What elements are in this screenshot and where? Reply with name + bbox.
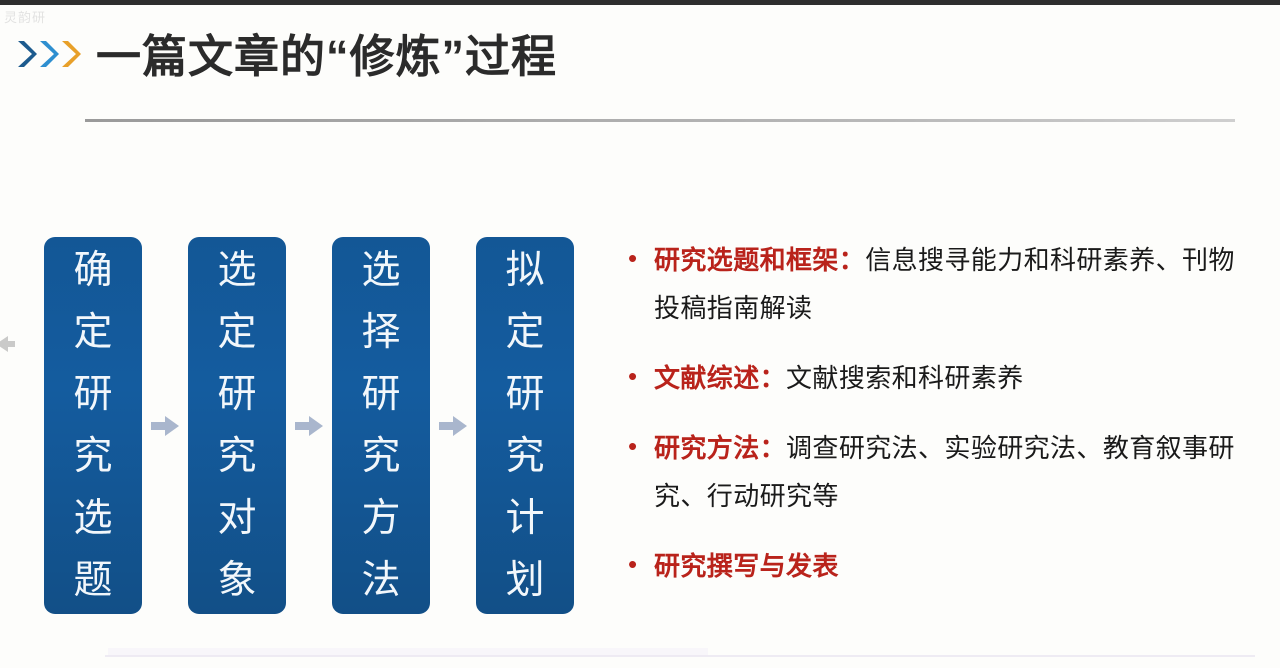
- step-char: 研: [505, 364, 544, 426]
- step-char: 法: [361, 550, 400, 612]
- step-char: 择: [361, 302, 400, 364]
- chevron-right-icon-2: [38, 39, 60, 69]
- list-item: • 研究撰写与发表: [620, 542, 1260, 590]
- chevron-group-icon: [16, 39, 82, 69]
- step-char: 究: [73, 426, 112, 488]
- process-step-1[interactable]: 确 定 研 究 选 题: [44, 237, 142, 614]
- list-item: • 研究选题和框架：信息搜寻能力和科研素养、刊物投稿指南解读: [620, 236, 1260, 332]
- slide-canvas: 灵韵研 一篇文章的“修炼”过程: [0, 0, 1280, 668]
- bullet-list: • 研究选题和框架：信息搜寻能力和科研素养、刊物投稿指南解读 • 文献综述：文献…: [620, 236, 1260, 590]
- step-char: 拟: [505, 240, 544, 302]
- step-char: 象: [217, 550, 256, 612]
- corner-watermark: 灵韵研: [4, 7, 46, 26]
- bullet-marker-icon: •: [620, 236, 654, 280]
- step-char: 计: [505, 488, 544, 550]
- bullet-body: 文献搜索和科研素养: [786, 363, 1024, 393]
- bullet-text: 研究方法：调查研究法、实验研究法、教育叙事研究、行动研究等: [654, 424, 1260, 520]
- video-top-bar: [0, 0, 1280, 5]
- step-char: 究: [361, 426, 400, 488]
- step-char: 确: [73, 240, 112, 302]
- flow-arrow-icon-2: [286, 414, 332, 438]
- step-char: 研: [361, 364, 400, 426]
- flow-arrow-icon-1: [142, 414, 188, 438]
- process-step-3[interactable]: 选 择 研 究 方 法: [332, 237, 430, 614]
- slide-header: 一篇文章的“修炼”过程: [0, 26, 1280, 96]
- page-title: 一篇文章的“修炼”过程: [96, 26, 557, 88]
- title-divider: [85, 119, 1235, 122]
- bullet-marker-icon: •: [620, 542, 654, 586]
- bullet-marker-icon: •: [620, 424, 654, 468]
- bullet-heading: 文献综述：: [654, 363, 786, 393]
- process-flow: 确 定 研 究 选 题 选 定 研 究 对 象 选 择: [44, 237, 574, 614]
- list-item: • 研究方法：调查研究法、实验研究法、教育叙事研究、行动研究等: [620, 424, 1260, 520]
- bottom-divider: [105, 655, 1255, 657]
- step-char: 选: [73, 488, 112, 550]
- step-char: 研: [217, 364, 256, 426]
- step-char: 选: [217, 240, 256, 302]
- step-char: 定: [505, 302, 544, 364]
- step-char: 定: [217, 302, 256, 364]
- step-char: 对: [217, 488, 256, 550]
- process-step-4[interactable]: 拟 定 研 究 计 划: [476, 237, 574, 614]
- step-char: 究: [217, 426, 256, 488]
- list-item: • 文献综述：文献搜索和科研素养: [620, 354, 1260, 402]
- process-step-2[interactable]: 选 定 研 究 对 象: [188, 237, 286, 614]
- bullet-heading: 研究撰写与发表: [654, 551, 839, 581]
- step-char: 究: [505, 426, 544, 488]
- bullet-marker-icon: •: [620, 354, 654, 398]
- flow-arrow-icon-3: [430, 414, 476, 438]
- step-char: 选: [361, 240, 400, 302]
- bullet-heading: 研究方法：: [654, 433, 786, 463]
- step-char: 题: [73, 550, 112, 612]
- step-char: 定: [73, 302, 112, 364]
- bullet-text: 研究撰写与发表: [654, 542, 1260, 590]
- chevron-right-icon-3: [60, 39, 82, 69]
- chevron-right-icon-1: [16, 39, 38, 69]
- step-char: 划: [505, 550, 544, 612]
- step-char: 方: [361, 488, 400, 550]
- bullet-text: 研究选题和框架：信息搜寻能力和科研素养、刊物投稿指南解读: [654, 236, 1260, 332]
- bullet-text: 文献综述：文献搜索和科研素养: [654, 354, 1260, 402]
- bullet-heading: 研究选题和框架：: [654, 245, 865, 275]
- step-char: 研: [73, 364, 112, 426]
- left-edge-artifact: [0, 330, 16, 358]
